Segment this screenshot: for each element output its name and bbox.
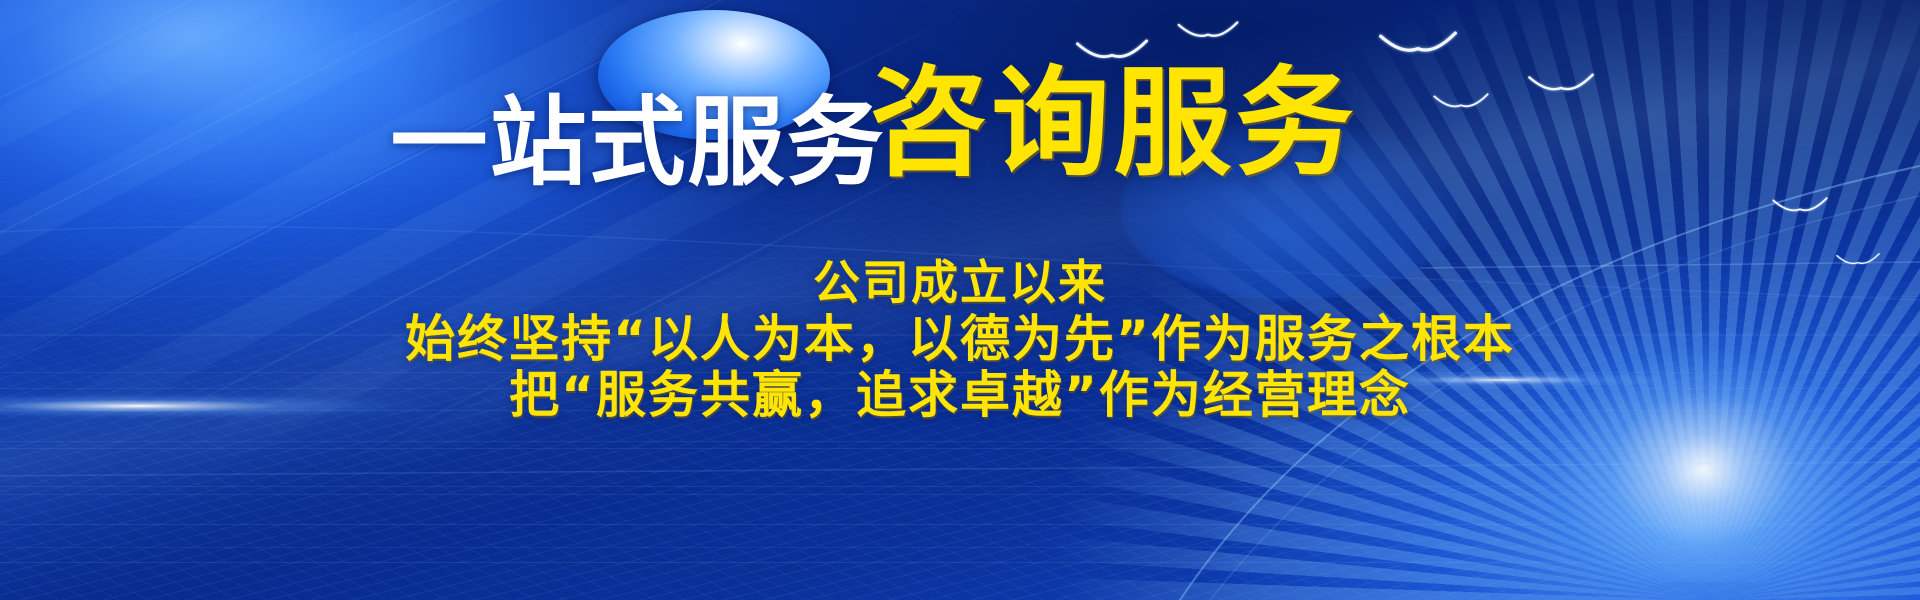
subtitle-line-2: 始终坚持“以人为本，以德为先”作为服务之根本 [0,311,1920,367]
headline-row: 一站式服务咨询服务 [390,64,1357,191]
subtitle-block: 公司成立以来 始终坚持“以人为本，以德为先”作为服务之根本 把“服务共赢，追求卓… [0,258,1920,423]
seagull-6-icon [1772,196,1828,216]
subtitle-line-3: 把“服务共赢，追求卓越”作为经营理念 [0,367,1920,423]
promotional-banner: 一站式服务咨询服务 公司成立以来 始终坚持“以人为本，以德为先”作为服务之根本 … [0,0,1920,600]
headline-accent-text: 咨询服务 [869,64,1357,182]
seagull-3-icon [1378,30,1458,58]
headline-primary-text: 一站式服务 [390,94,885,191]
subtitle-line-1: 公司成立以来 [0,258,1920,311]
headline-block: 一站式服务咨询服务 [0,64,1920,191]
seagull-2-icon [1176,20,1240,42]
